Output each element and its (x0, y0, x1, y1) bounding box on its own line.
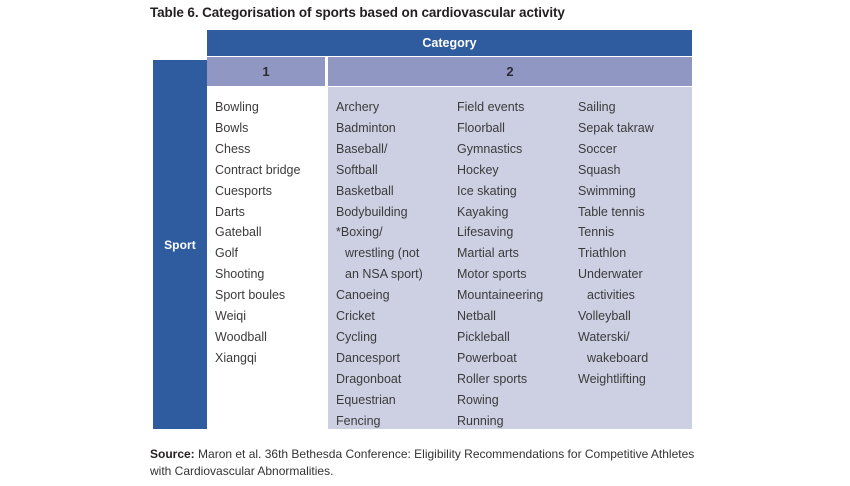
sport-item: Softball (336, 160, 456, 181)
sport-item: Sport boules (215, 285, 327, 306)
sport-item: Sailing (578, 97, 688, 118)
sport-item: Pickleball (457, 327, 579, 348)
sport-item: Underwater (578, 264, 688, 285)
source-note: Source: Maron et al. 36th Bethesda Confe… (150, 446, 710, 480)
sport-item: Powerboat (457, 348, 579, 369)
sport-item: Running (457, 411, 579, 432)
sport-item: wrestling (not (336, 243, 456, 264)
sport-item: an NSA sport) (336, 264, 456, 285)
category-2-subheader-label: 2 (506, 64, 513, 79)
sport-item: Soccer (578, 139, 688, 160)
sport-item: Sepak takraw (578, 118, 688, 139)
category-1-subheader-label: 1 (262, 64, 269, 79)
sport-item: Xiangqi (215, 348, 327, 369)
figure-container: Table 6. Categorisation of sports based … (0, 0, 850, 486)
sport-item: *Boxing/ (336, 222, 456, 243)
category-1-list: BowlingBowlsChessContract bridgeCuesport… (215, 97, 327, 369)
sport-item: Gymnastics (457, 139, 579, 160)
sport-item: Shooting (215, 264, 327, 285)
sport-item: Kayaking (457, 202, 579, 223)
sport-item: Rowing (457, 390, 579, 411)
sport-item: Baseball/ (336, 139, 456, 160)
category-1-body: BowlingBowlsChessContract bridgeCuesport… (207, 87, 325, 429)
sport-item: Fencing (336, 411, 456, 432)
sport-item: Cuesports (215, 181, 327, 202)
sport-item: Tennis (578, 222, 688, 243)
sport-item: Weiqi (215, 306, 327, 327)
sport-item: Ice skating (457, 181, 579, 202)
sport-item: Basketball (336, 181, 456, 202)
sport-item: Cricket (336, 306, 456, 327)
sport-item: Weightlifting (578, 369, 688, 390)
sport-item: Gateball (215, 222, 327, 243)
sport-item: Volleyball (578, 306, 688, 327)
sport-item: Bowling (215, 97, 327, 118)
category-group-header-label: Category (422, 36, 476, 50)
sport-item: Badminton (336, 118, 456, 139)
sport-item: Golf (215, 243, 327, 264)
source-text: Maron et al. 36th Bethesda Conference: E… (150, 447, 694, 478)
sport-item: Hockey (457, 160, 579, 181)
sport-stub-label: Sport (164, 238, 196, 252)
table-title: Table 6. Categorisation of sports based … (150, 5, 750, 20)
sport-item: Roller sports (457, 369, 579, 390)
sport-item: activities (578, 285, 688, 306)
sport-item: Dragonboat (336, 369, 456, 390)
sport-item: Waterski/ (578, 327, 688, 348)
sport-item: Field events (457, 97, 579, 118)
sport-item: Woodball (215, 327, 327, 348)
sport-item: Cycling (336, 327, 456, 348)
sport-item: Lifesaving (457, 222, 579, 243)
sport-item: Chess (215, 139, 327, 160)
sport-item: Martial arts (457, 243, 579, 264)
sport-item: Bowls (215, 118, 327, 139)
category-2-list-column-a: ArcheryBadmintonBaseball/SoftballBasketb… (336, 97, 456, 432)
sport-item: Bodybuilding (336, 202, 456, 223)
sport-stub-column: Sport (153, 60, 207, 429)
category-2-list-column-c: SailingSepak takrawSoccerSquashSwimmingT… (578, 97, 688, 390)
sport-item: Dancesport (336, 348, 456, 369)
sports-category-table: Category Sport 1 2 BowlingBowlsChessCont… (153, 30, 692, 429)
source-label: Source: (150, 447, 195, 461)
category-2-subheader: 2 (328, 57, 692, 86)
sport-item: Contract bridge (215, 160, 327, 181)
sport-item: wakeboard (578, 348, 688, 369)
sport-item: Archery (336, 97, 456, 118)
sport-item: Floorball (457, 118, 579, 139)
category-1-subheader: 1 (207, 57, 325, 86)
sport-item: Triathlon (578, 243, 688, 264)
category-group-header: Category (207, 30, 692, 56)
sport-item: Table tennis (578, 202, 688, 223)
sport-item: Netball (457, 306, 579, 327)
sport-item: Swimming (578, 181, 688, 202)
sport-item: Darts (215, 202, 327, 223)
sport-item: Motor sports (457, 264, 579, 285)
sport-item: Equestrian (336, 390, 456, 411)
sport-item: Mountaineering (457, 285, 579, 306)
sport-item: Canoeing (336, 285, 456, 306)
sport-item: Squash (578, 160, 688, 181)
category-2-list-column-b: Field eventsFloorballGymnasticsHockeyIce… (457, 97, 579, 432)
category-2-body: ArcheryBadmintonBaseball/SoftballBasketb… (328, 87, 692, 429)
